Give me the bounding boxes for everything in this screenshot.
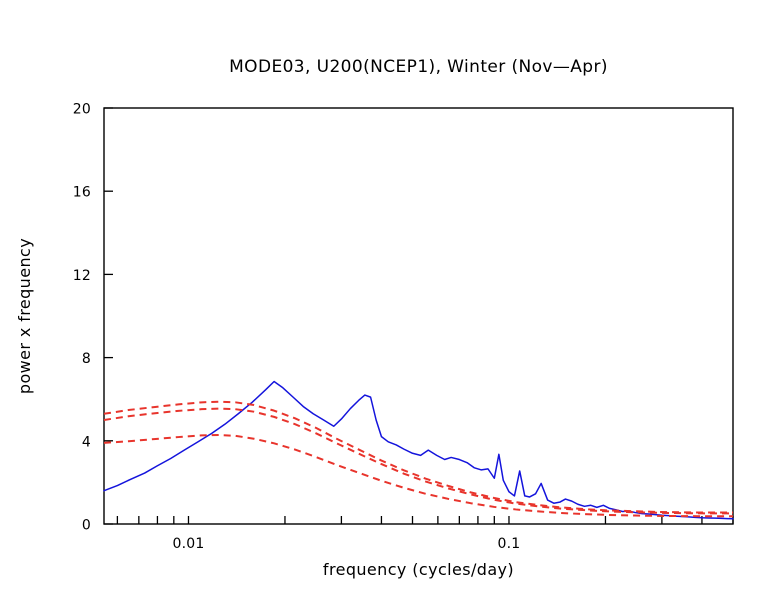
y-tick-label: 16 [73, 185, 91, 201]
x-tick-label: 0.1 [498, 536, 521, 552]
y-tick-label: 0 [82, 518, 91, 534]
series-line-0 [104, 382, 733, 519]
chart-title: MODE03, U200(NCEP1), Winter (Nov—Apr) [229, 57, 608, 77]
series-line-2 [104, 409, 733, 514]
plot-frame [104, 108, 733, 524]
y-tick-label: 12 [73, 268, 91, 284]
x-tick-label: 0.01 [172, 536, 204, 552]
y-tick-label: 8 [82, 351, 91, 367]
figure-container: 0481216200.010.1MODE03, U200(NCEP1), Win… [0, 0, 770, 595]
series-line-1 [104, 402, 733, 513]
y-axis-label: power x frequency [15, 238, 34, 394]
y-tick-label: 20 [73, 102, 91, 118]
x-axis-label: frequency (cycles/day) [323, 560, 514, 579]
spectrum-chart: 0481216200.010.1MODE03, U200(NCEP1), Win… [0, 0, 770, 595]
y-tick-label: 4 [82, 434, 91, 450]
